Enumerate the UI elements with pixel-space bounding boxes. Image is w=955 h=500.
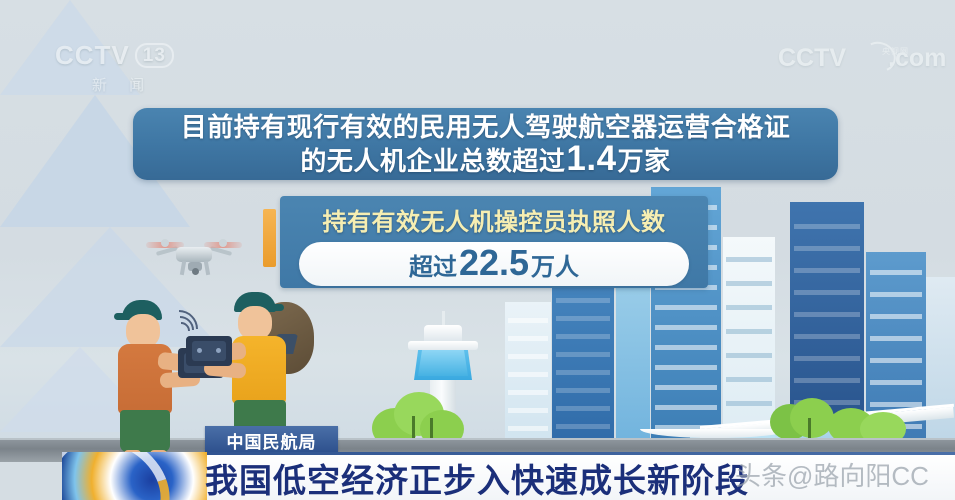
banner-primary-number: 1.4	[566, 143, 616, 175]
control-tower-glass	[418, 350, 468, 376]
cctv-com-cn-label: 央视网	[882, 46, 909, 57]
banner-secondary-suffix: 万人	[531, 247, 579, 282]
banner-primary-line1: 目前持有现行有效的民用无人驾驶航空器运营合格证	[181, 111, 791, 143]
banner-primary-suffix: 万家	[618, 145, 671, 177]
banner-secondary: 持有有效无人机操控员执照人数 超过 22.5 万人	[263, 196, 708, 282]
building-left-1	[505, 302, 551, 452]
headline-text: 我国低空经济正步入快速成长新阶段	[205, 455, 749, 500]
banner-primary: 目前持有现行有效的民用无人驾驶航空器运营合格证 的无人机企业总数超过 1.4 万…	[133, 108, 838, 180]
control-tower-rim	[408, 341, 478, 350]
banner-secondary-pill: 超过 22.5 万人	[299, 242, 689, 286]
channel-name: 新 闻	[55, 74, 190, 95]
drone-camera	[192, 268, 199, 275]
cctv-com-watermark: 央视网 CCTV.com	[778, 44, 948, 84]
drone-illustration	[148, 234, 240, 280]
cctv13-logo: CCTV 13 新 闻	[55, 40, 190, 96]
cctv-com-brand: CCTV	[778, 44, 846, 72]
lower-third-swirl-graphic	[62, 452, 207, 500]
channel-number: 13	[135, 43, 174, 68]
banner-secondary-prefix: 超过	[409, 247, 457, 282]
banner-primary-prefix: 的无人机企业总数超过	[300, 145, 565, 177]
uploader-watermark: 头条@路向阳CC	[735, 456, 929, 493]
cctv-logo-text: CCTV	[55, 40, 130, 71]
banner-secondary-accent-bar	[263, 209, 276, 267]
source-tag: 中国民航局	[205, 426, 338, 454]
banner-secondary-title: 持有有效无人机操控员执照人数	[323, 202, 666, 237]
control-tower-antenna	[442, 311, 445, 325]
control-tower-roof	[424, 325, 462, 341]
broadcast-screenshot: CCTV 13 新 闻 央视网 CCTV.com 目前持有现行有效的民用无人驾驶…	[0, 0, 955, 500]
source-tag-label: 中国民航局	[227, 428, 317, 453]
banner-primary-line2: 的无人机企业总数超过 1.4 万家	[300, 143, 670, 177]
banner-secondary-number: 22.5	[459, 248, 529, 278]
